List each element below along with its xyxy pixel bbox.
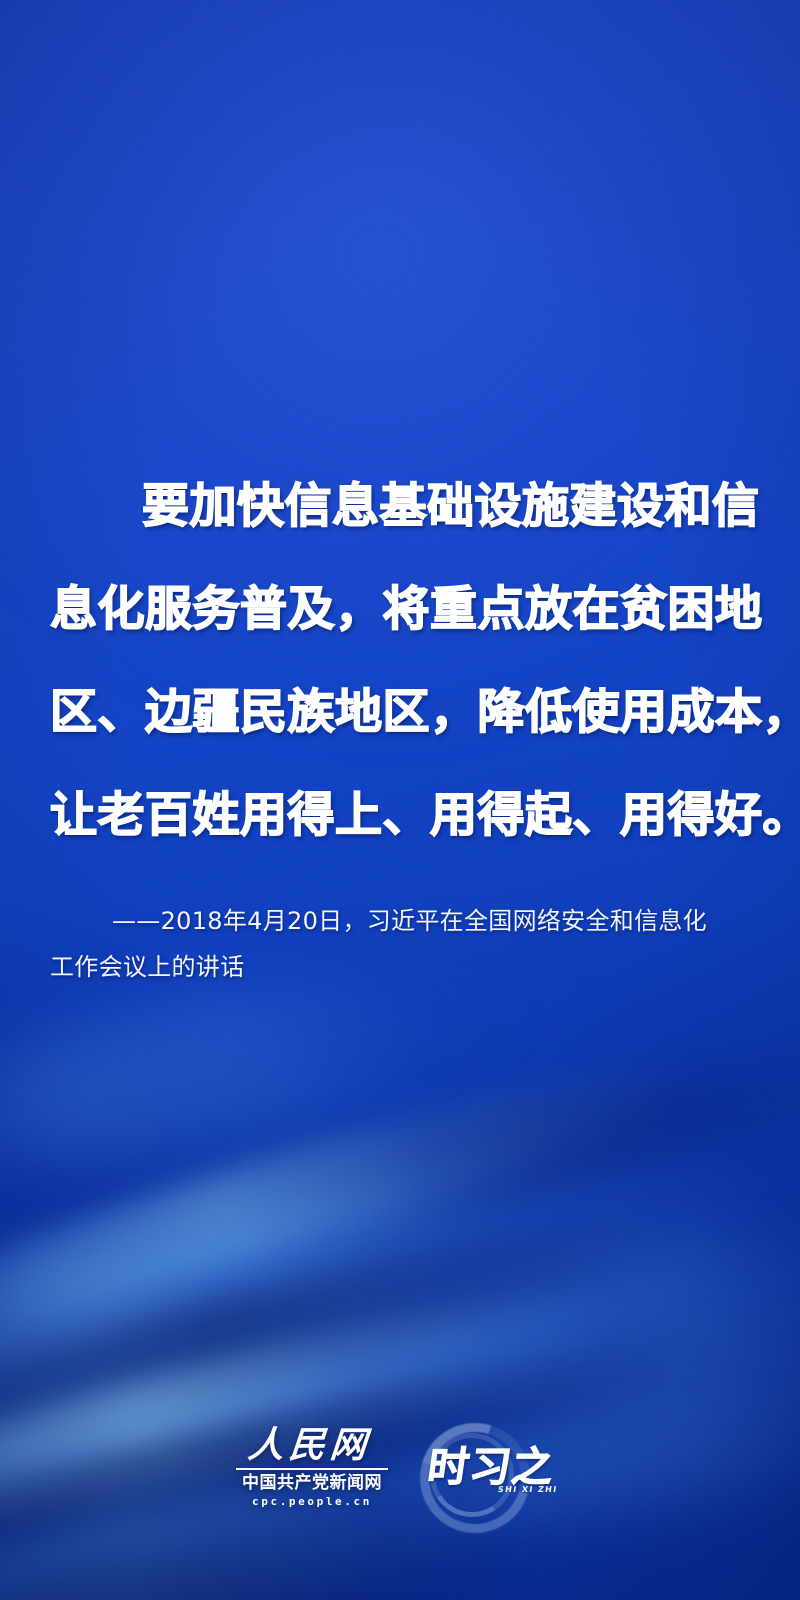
quote-line-4: 让老百姓用得上、用得起、用得好。 bbox=[50, 764, 750, 867]
attribution-line-1: ——2018年4月20日，习近平在全国网络安全和信息化 bbox=[50, 898, 756, 944]
attribution-line-2: 工作会议上的讲话 bbox=[50, 944, 756, 990]
peoples-daily-subtitle: 中国共产党新闻网 bbox=[242, 1473, 382, 1493]
shixizhi-logo[interactable]: 时习之 SHI XI ZHI bbox=[414, 1415, 564, 1519]
peoples-daily-brand: 人民网 bbox=[247, 1425, 378, 1465]
peoples-daily-logo[interactable]: 人民网 中国共产党新闻网 cpc.people.cn bbox=[236, 1425, 388, 1509]
quote-block: 要加快信息基础设施建设和信 息化服务普及，将重点放在贫困地 区、边疆民族地区，降… bbox=[50, 455, 750, 867]
shixizhi-pinyin: SHI XI ZHI bbox=[498, 1485, 559, 1494]
quote-line-1: 要加快信息基础设施建设和信 bbox=[50, 455, 750, 558]
quote-line-2: 息化服务普及，将重点放在贫困地 bbox=[50, 558, 750, 661]
quote-line-3: 区、边疆民族地区，降低使用成本， bbox=[50, 661, 750, 764]
footer-logo-row: 人民网 中国共产党新闻网 cpc.people.cn 时习之 SHI XI ZH… bbox=[0, 1412, 800, 1522]
peoples-daily-divider bbox=[236, 1468, 388, 1470]
shixizhi-title: 时习之 bbox=[421, 1445, 557, 1489]
poster-canvas: 要加快信息基础设施建设和信 息化服务普及，将重点放在贫困地 区、边疆民族地区，降… bbox=[0, 0, 800, 1600]
peoples-daily-url: cpc.people.cn bbox=[252, 1494, 372, 1509]
poster-content: 要加快信息基础设施建设和信 息化服务普及，将重点放在贫困地 区、边疆民族地区，降… bbox=[0, 0, 800, 1600]
quote-attribution: ——2018年4月20日，习近平在全国网络安全和信息化 工作会议上的讲话 bbox=[50, 898, 756, 990]
